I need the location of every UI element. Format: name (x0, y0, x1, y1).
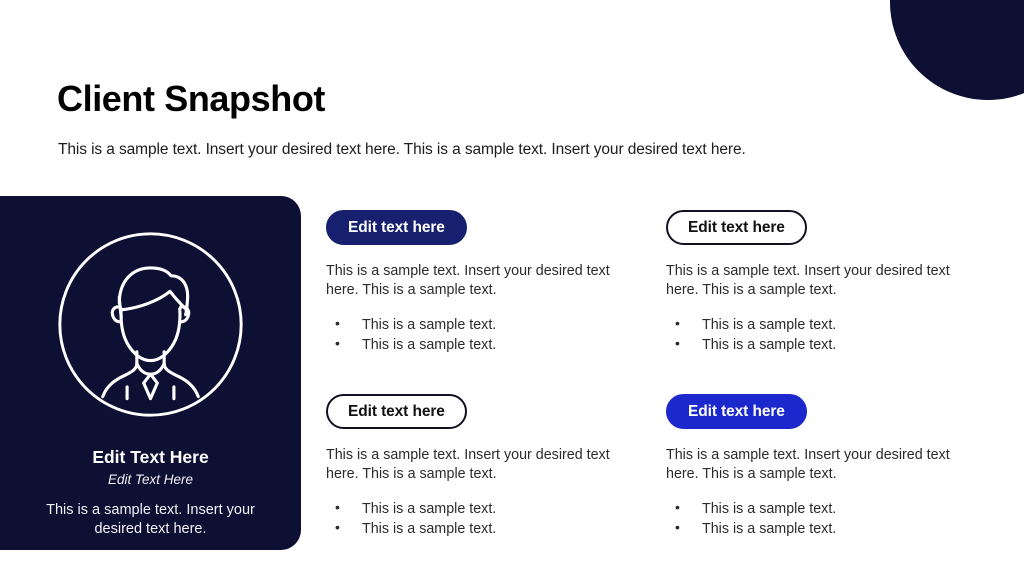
block-body-1: This is a sample text. Insert your desir… (326, 262, 622, 301)
list-item: This is a sample text. (326, 335, 666, 355)
edit-text-button-3[interactable]: Edit text here (326, 394, 467, 429)
content-block-1: Edit text here This is a sample text. In… (326, 210, 666, 394)
page-title: Client Snapshot (57, 79, 325, 119)
block-bullet-list-4: This is a sample text. This is a sample … (666, 499, 1004, 540)
content-block-2: Edit text here This is a sample text. In… (666, 210, 1004, 394)
profile-role: Edit Text Here (108, 472, 193, 488)
profile-description: This is a sample text. Insert your desir… (41, 501, 261, 539)
list-item: This is a sample text. (666, 499, 1004, 519)
decorative-circle (890, 0, 1024, 100)
edit-text-button-1[interactable]: Edit text here (326, 210, 467, 245)
content-grid: Edit text here This is a sample text. In… (326, 210, 1004, 539)
profile-name: Edit Text Here (92, 447, 208, 468)
edit-text-button-4[interactable]: Edit text here (666, 394, 807, 429)
block-body-4: This is a sample text. Insert your desir… (666, 446, 962, 485)
list-item: This is a sample text. (666, 335, 1004, 355)
block-bullet-list-1: This is a sample text. This is a sample … (326, 315, 666, 356)
content-block-3: Edit text here This is a sample text. In… (326, 394, 666, 539)
list-item: This is a sample text. (666, 315, 1004, 335)
list-item: This is a sample text. (326, 519, 666, 539)
edit-text-button-2[interactable]: Edit text here (666, 210, 807, 245)
list-item: This is a sample text. (666, 519, 1004, 539)
content-block-4: Edit text here This is a sample text. In… (666, 394, 1004, 539)
person-avatar-icon (53, 227, 248, 422)
slide-canvas: Client Snapshot This is a sample text. I… (0, 0, 1024, 576)
list-item: This is a sample text. (326, 499, 666, 519)
profile-panel: Edit Text Here Edit Text Here This is a … (0, 196, 301, 550)
block-body-3: This is a sample text. Insert your desir… (326, 446, 622, 485)
block-body-2: This is a sample text. Insert your desir… (666, 262, 962, 301)
page-subtitle: This is a sample text. Insert your desir… (58, 140, 746, 160)
list-item: This is a sample text. (326, 315, 666, 335)
block-bullet-list-2: This is a sample text. This is a sample … (666, 315, 1004, 356)
block-bullet-list-3: This is a sample text. This is a sample … (326, 499, 666, 540)
